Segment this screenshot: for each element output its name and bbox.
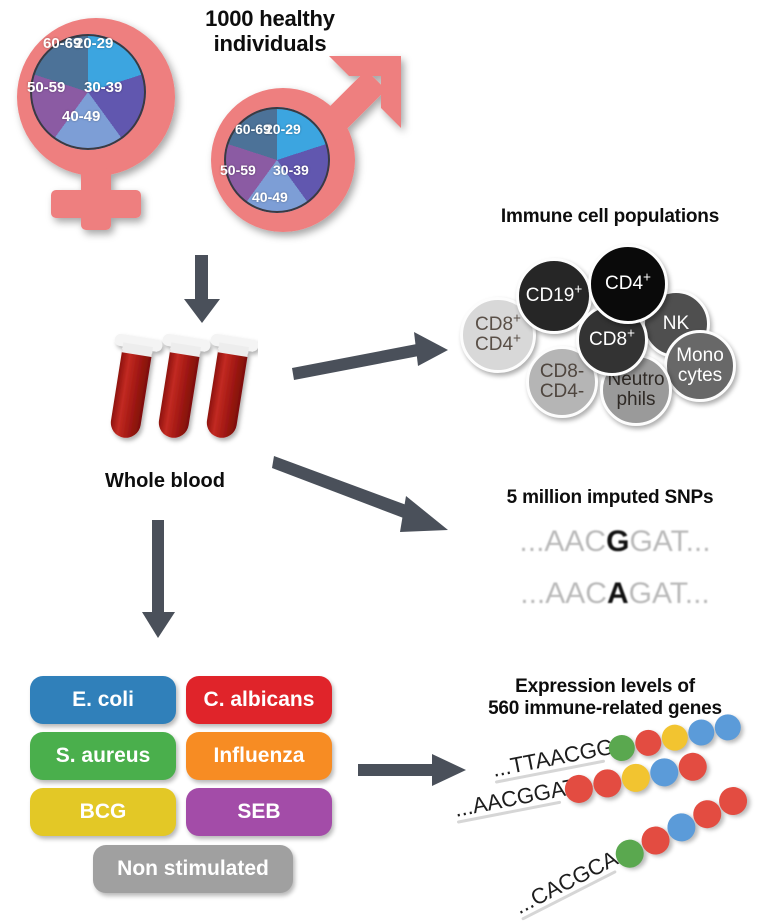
expression-bead [648, 756, 681, 789]
cohort-heading: 1000 healthy individuals [160, 6, 380, 57]
female-pie-label-30-39: 30-39 [84, 79, 122, 96]
snp-suffix: GAT... [629, 577, 710, 610]
stimulus-label: Non stimulated [117, 857, 269, 881]
snp-sequences: ...AACGGAT... ...AACAGAT... [470, 525, 760, 620]
expression-strands: ...TTAACGG...AACGGAT...CACGCAA [455, 735, 771, 915]
snp-suffix: GAT... [629, 525, 710, 558]
immune-cell-label: Neutrophils [607, 370, 664, 410]
stimulus-label: E. coli [72, 688, 134, 712]
expression-heading-line1: Expression levels of [440, 676, 770, 698]
arrow-blood-to-snps [272, 452, 452, 542]
arrow-blood-to-stimuli [137, 520, 181, 640]
stimulus-e-coli[interactable]: E. coli [30, 676, 176, 724]
snp-variant-allele: A [607, 577, 629, 610]
expression-bead [591, 767, 624, 800]
expression-bead [686, 717, 716, 747]
female-pie-label-60-69: 60-69 [43, 35, 81, 52]
female-pie-label-40-49: 40-49 [62, 108, 100, 125]
expression-bead [676, 750, 709, 783]
snps-heading: 5 million imputed SNPs [450, 487, 770, 509]
immune-cell-cluster: CD19+CD4+NKCD8+CD4+CD8+MonocytesCD8-CD4-… [460, 242, 760, 427]
female-pie-label-50-59: 50-59 [27, 79, 65, 96]
immune-cell-label: CD4+ [605, 274, 651, 294]
snp-prefix: ...AAC [519, 525, 606, 558]
immune-cell-monocytes: Monocytes [664, 330, 736, 402]
expression-bead [619, 761, 652, 794]
expression-bead [660, 722, 690, 752]
immune-heading: Immune cell populations [450, 206, 770, 228]
immune-cell-label: CD8+CD4+ [475, 315, 521, 355]
blood-tubes-glyph [108, 330, 258, 455]
expression-bead [633, 728, 663, 758]
male-pie-label-60-69: 60-69 [235, 121, 271, 137]
immune-cell-label: NK [663, 314, 689, 334]
expression-bead [713, 712, 743, 742]
stimulus-bcg[interactable]: BCG [30, 788, 176, 836]
immune-cell-label: Monocytes [676, 346, 724, 386]
arrow-cohort-to-blood [180, 255, 224, 325]
arrow-stimuli-to-expression [358, 752, 468, 788]
snp-variant-allele: G [606, 525, 629, 558]
whole-blood-label: Whole blood [55, 470, 275, 493]
stimulus-seb[interactable]: SEB [186, 788, 332, 836]
stimulus-label: C. albicans [204, 688, 315, 712]
stimulus-s-aureus[interactable]: S. aureus [30, 732, 176, 780]
immune-cell-label: CD19+ [526, 286, 583, 306]
male-pie-label-40-49: 40-49 [252, 189, 288, 205]
stimulus-label: BCG [80, 800, 127, 824]
stimulus-non-stimulated[interactable]: Non stimulated [93, 845, 293, 893]
snp-prefix: ...AAC [520, 577, 607, 610]
cohort-heading-line1: 1000 healthy [160, 6, 380, 31]
stimulus-c-albicans[interactable]: C. albicans [186, 676, 332, 724]
stimulus-influenza[interactable]: Influenza [186, 732, 332, 780]
stimulus-label: SEB [237, 800, 280, 824]
immune-cell-cd4: CD4+ [588, 244, 668, 324]
snp-row-1: ...AACGGAT... [470, 525, 760, 567]
figure-canvas: 1000 healthy individuals 20-29 30-39 40-… [0, 0, 771, 922]
blood-tubes [108, 330, 258, 455]
stimulus-label: S. aureus [56, 744, 151, 768]
arrow-blood-to-immune [290, 330, 450, 380]
male-pie-label-30-39: 30-39 [273, 162, 309, 178]
male-pie-label-50-59: 50-59 [220, 162, 256, 178]
snp-row-2: ...AACAGAT... [470, 577, 760, 619]
stimulus-label: Influenza [213, 744, 304, 768]
immune-cell-label: CD8-CD4- [540, 362, 584, 402]
immune-cell-label: CD8+ [589, 330, 635, 350]
